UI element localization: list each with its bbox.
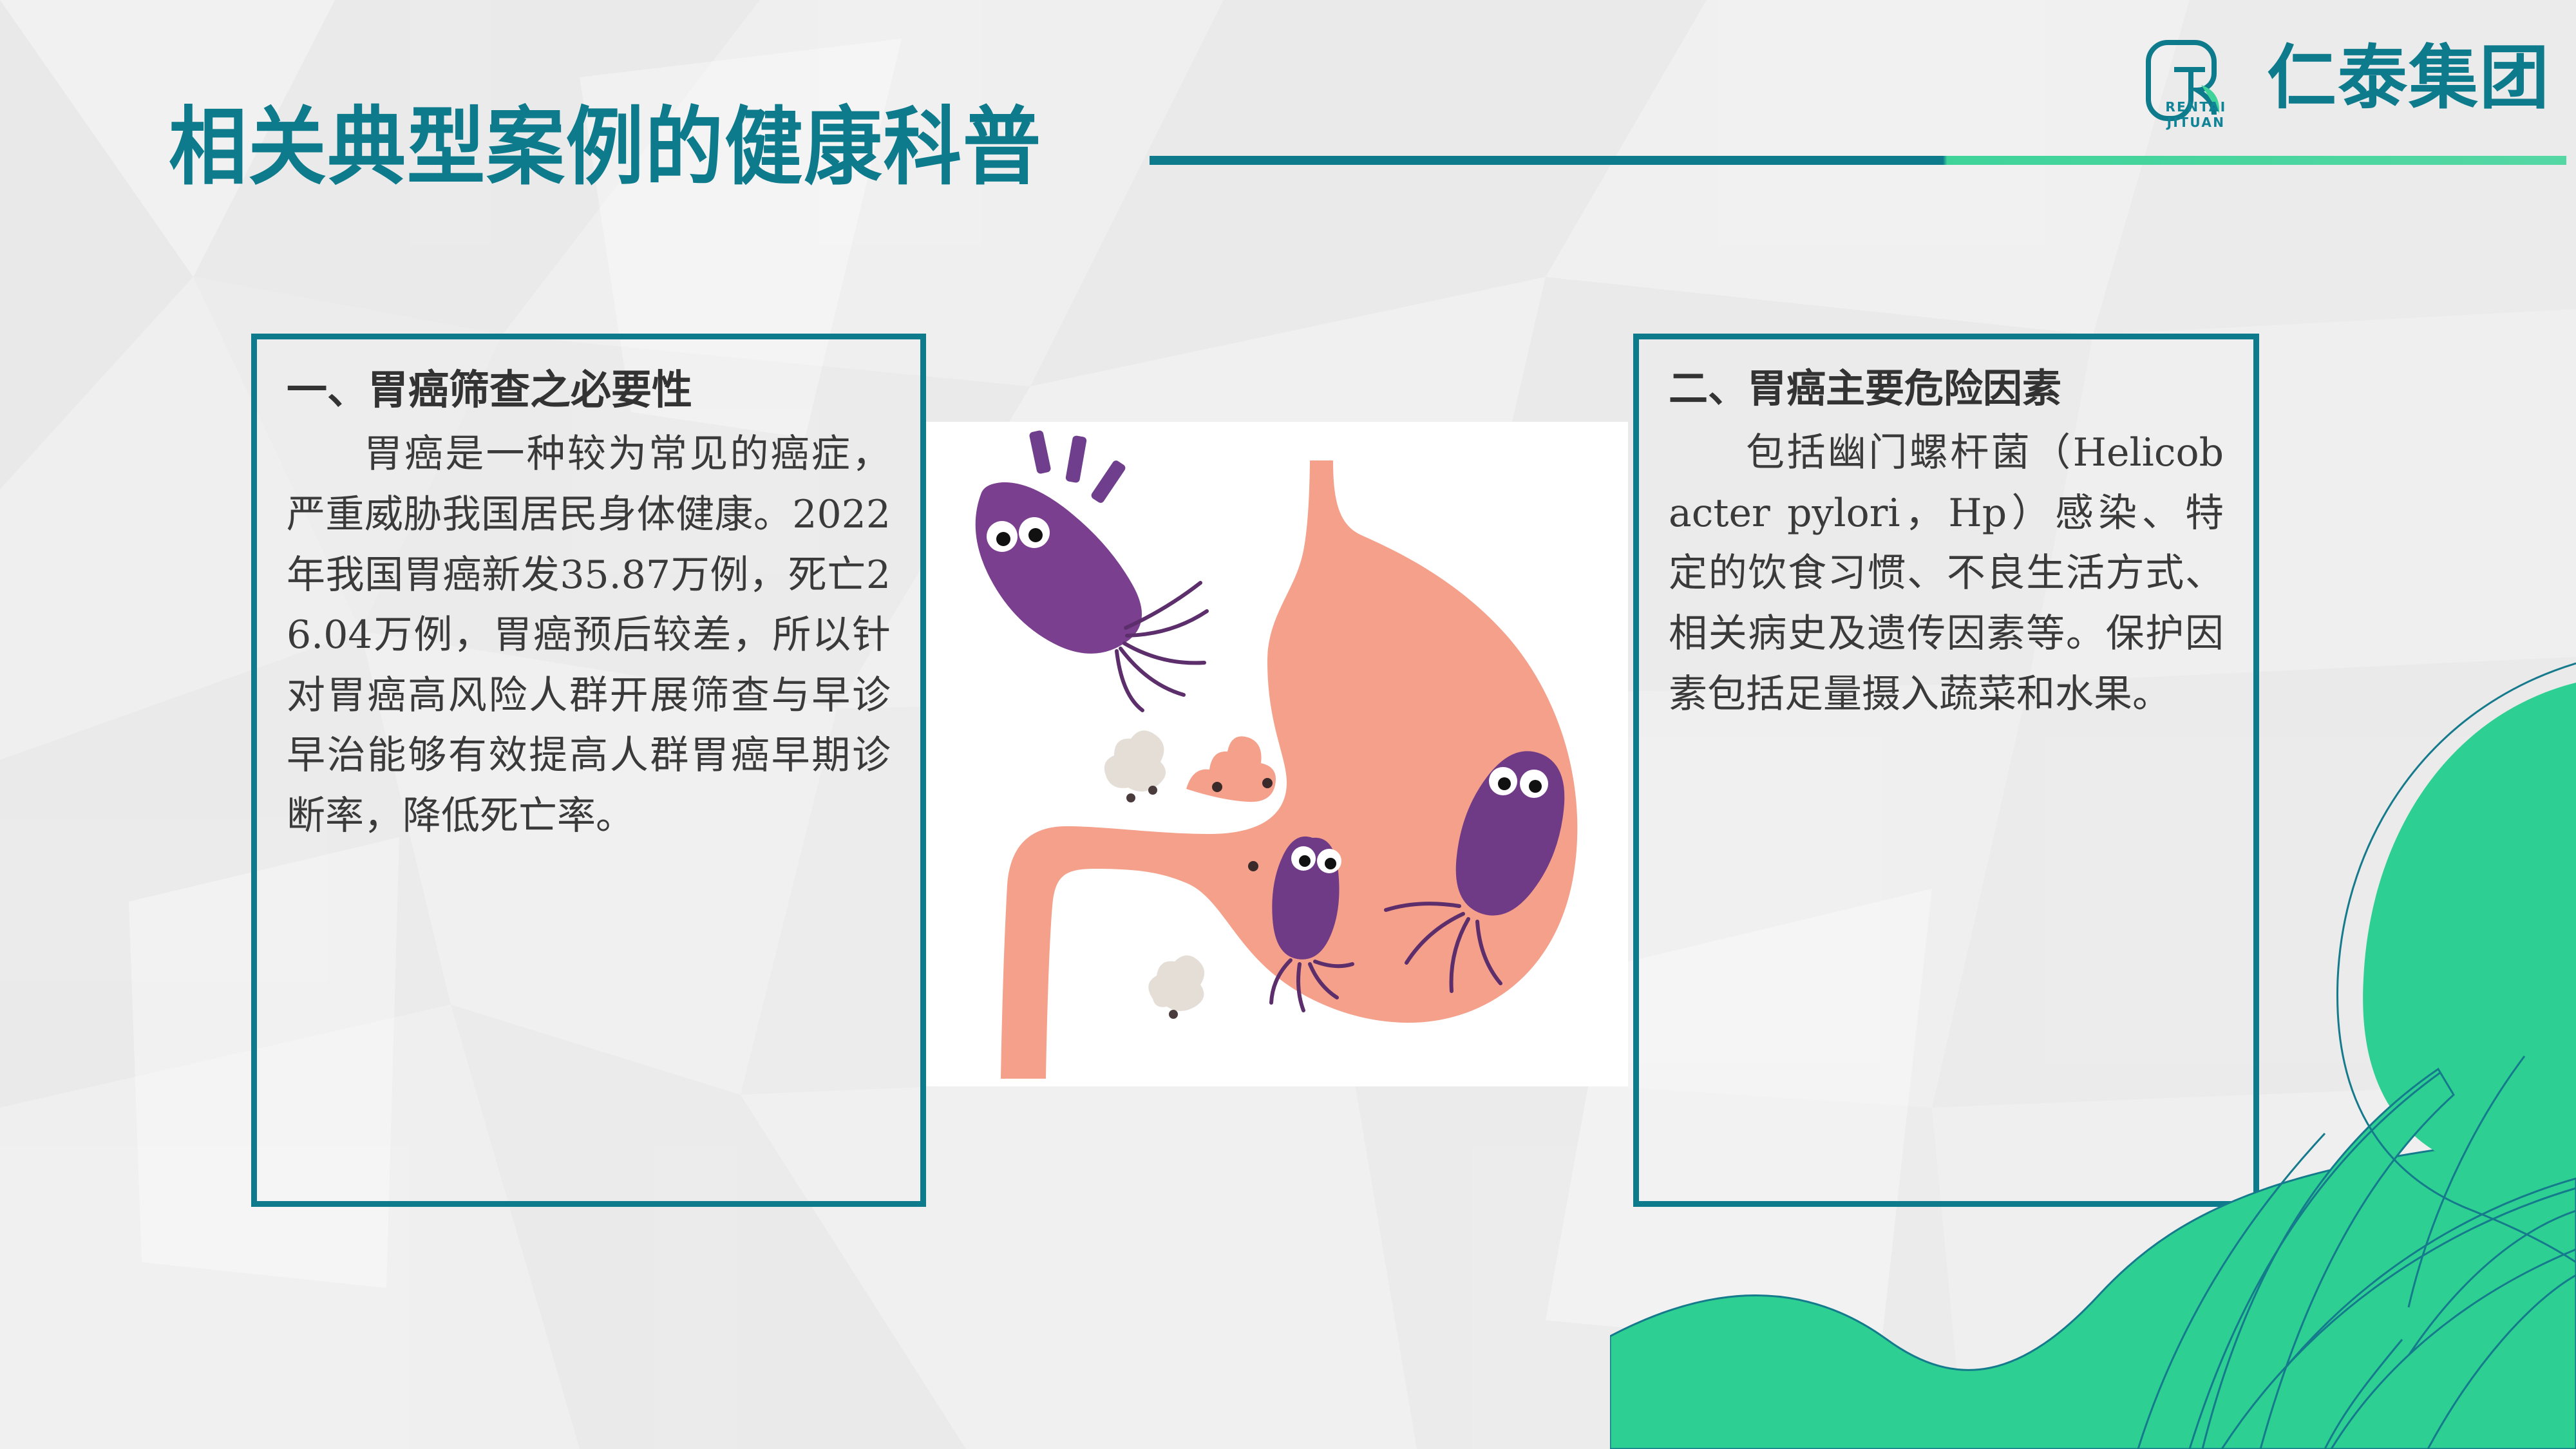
- panel-left-heading: 一、胃癌筛查之必要性: [287, 366, 891, 413]
- stomach-with-helicobacter-pylori-illustration: [926, 422, 1628, 1086]
- panel-left-content: 一、胃癌筛查之必要性 胃癌是一种较为常见的癌症，严重威胁我国居民身体健康。202…: [257, 339, 920, 847]
- rentai-monogram-icon: RENTAI JITUAN: [2134, 31, 2250, 126]
- panel-risk-factors: 二、胃癌主要危险因素 包括幽门螺杆菌（Helicobacter pylori，H…: [1633, 334, 2259, 1207]
- panel-left-body: 胃癌是一种较为常见的癌症，严重威胁我国居民身体健康。2022年我国胃癌新发35.…: [287, 424, 891, 846]
- brand-logo: RENTAI JITUAN 仁泰集团: [2134, 31, 2550, 126]
- panel-right-heading: 二、胃癌主要危险因素: [1669, 366, 2224, 412]
- panel-screening-necessity: 一、胃癌筛查之必要性 胃癌是一种较为常见的癌症，严重威胁我国居民身体健康。202…: [251, 334, 926, 1207]
- title-divider-rule: [1150, 156, 2566, 165]
- logo-wordmark: 仁泰集团: [2267, 44, 2550, 113]
- logo-pinyin: RENTAI JITUAN: [2139, 99, 2253, 130]
- panel-right-content: 二、胃癌主要危险因素 包括幽门螺杆菌（Helicobacter pylori，H…: [1639, 339, 2253, 724]
- slide-canvas: 相关典型案例的健康科普 RENTAI JITUAN 仁泰集团 一、胃癌筛查之必要…: [0, 0, 2576, 1449]
- page-title: 相关典型案例的健康科普: [169, 103, 1042, 193]
- panel-right-body: 包括幽门螺杆菌（Helicobacter pylori，Hp）感染、特定的饮食习…: [1669, 423, 2224, 724]
